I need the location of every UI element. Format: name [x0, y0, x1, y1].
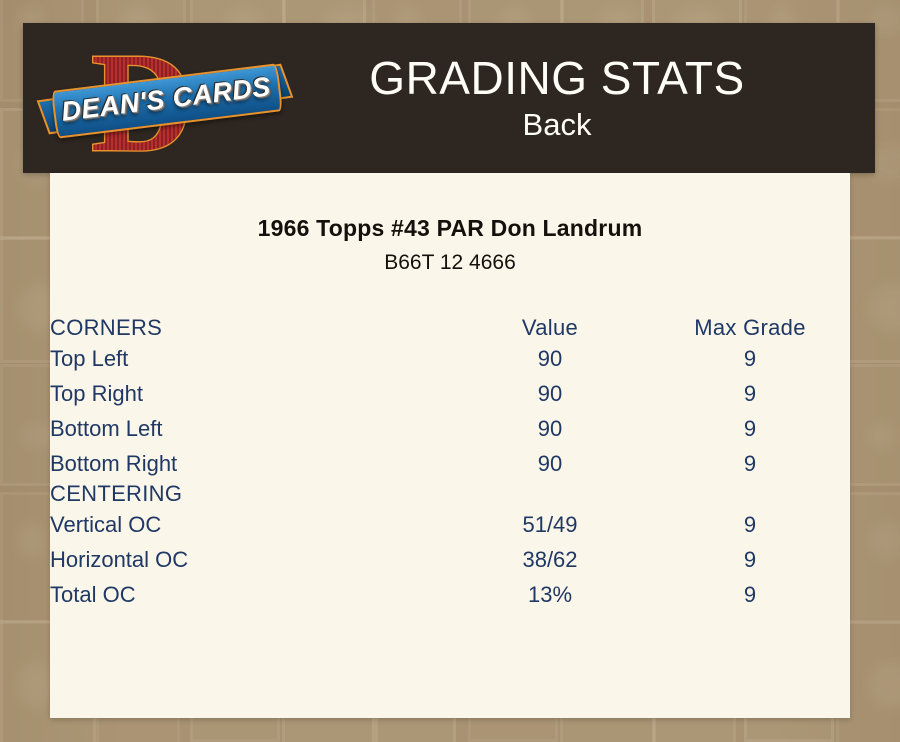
page-subtitle: Back: [285, 105, 829, 145]
table-row: Bottom Left909: [50, 411, 850, 446]
row-value: 90: [450, 446, 650, 481]
background-blur-blob: [869, 522, 900, 559]
row-label: Horizontal OC: [50, 542, 450, 577]
stats-table-body: CORNERSValueMax GradeTop Left909Top Righ…: [50, 315, 850, 612]
page-title: GRADING STATS: [285, 51, 829, 105]
table-row: Vertical OC51/499: [50, 507, 850, 542]
deans-cards-logo[interactable]: D D DEAN'S CARDS: [23, 23, 285, 173]
row-label: Vertical OC: [50, 507, 450, 542]
row-value: 90: [450, 411, 650, 446]
row-value: 38/62: [450, 542, 650, 577]
background-blur-blob: [18, 661, 53, 709]
header-titles: GRADING STATS Back: [285, 51, 875, 145]
row-value: 51/49: [450, 507, 650, 542]
background-blur-blob: [869, 423, 895, 449]
row-label: Top Left: [50, 341, 450, 376]
column-header-value: Value: [450, 315, 650, 341]
table-row: Top Left909: [50, 341, 850, 376]
table-row: Horizontal OC38/629: [50, 542, 850, 577]
section-title: CORNERS: [50, 315, 450, 341]
row-max-grade: 9: [650, 577, 850, 612]
section-title: CENTERING: [50, 481, 450, 507]
row-max-grade: 9: [650, 411, 850, 446]
row-max-grade: 9: [650, 507, 850, 542]
row-label: Top Right: [50, 376, 450, 411]
logo-ribbon: DEAN'S CARDS: [45, 73, 285, 129]
row-label: Bottom Left: [50, 411, 450, 446]
content-panel: 1966 Topps #43 PAR Don Landrum B66T 12 4…: [50, 173, 850, 718]
grading-stats-table: CORNERSValueMax GradeTop Left909Top Righ…: [50, 315, 850, 612]
background-blur-blob: [18, 522, 44, 559]
row-max-grade: 9: [650, 376, 850, 411]
card-title: 1966 Topps #43 PAR Don Landrum: [50, 215, 850, 242]
row-max-grade: 9: [650, 446, 850, 481]
header-bar: D D DEAN'S CARDS GRADING STATS Back: [23, 23, 875, 173]
column-header-value: [450, 481, 650, 507]
row-max-grade: 9: [650, 542, 850, 577]
row-value: 13%: [450, 577, 650, 612]
column-header-max-grade: Max Grade: [650, 315, 850, 341]
section-header-row: CENTERING: [50, 481, 850, 507]
table-row: Top Right909: [50, 376, 850, 411]
column-header-max-grade: [650, 481, 850, 507]
section-header-row: CORNERSValueMax Grade: [50, 315, 850, 341]
row-value: 90: [450, 341, 650, 376]
row-value: 90: [450, 376, 650, 411]
table-row: Total OC13%9: [50, 577, 850, 612]
card-code: B66T 12 4666: [50, 251, 850, 275]
table-row: Bottom Right909: [50, 446, 850, 481]
row-max-grade: 9: [650, 341, 850, 376]
row-label: Total OC: [50, 577, 450, 612]
row-label: Bottom Right: [50, 446, 450, 481]
logo-stage: D D DEAN'S CARDS: [45, 29, 285, 167]
